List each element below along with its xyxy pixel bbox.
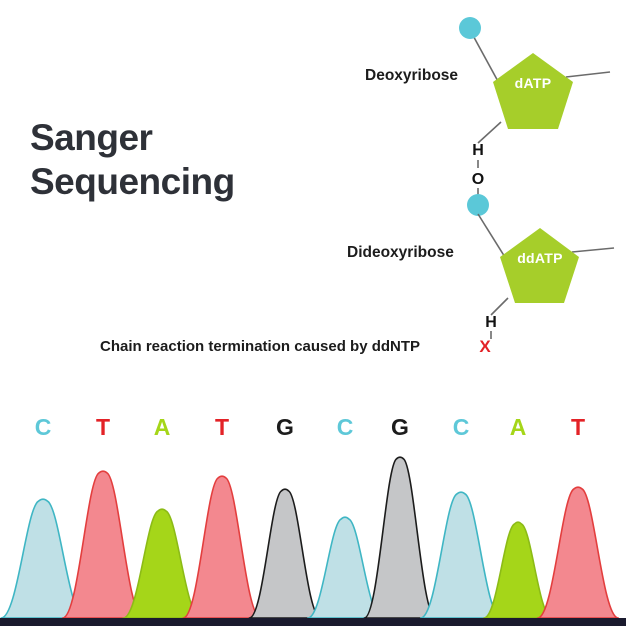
peak-1-T [63,471,144,618]
sanger-sequencing-infographic: Sanger Sequencing dATP Deoxyribose H O d… [0,0,626,626]
bond-circle-to-datp [470,30,500,85]
peak-8-A [484,522,552,618]
baseline-bar [0,618,626,626]
dideoxyribose-label: Dideoxyribose [347,244,454,261]
peak-9-T [538,487,619,618]
base-call-row: CTATGCGCAT [35,414,585,440]
base-letter-1: T [96,414,110,440]
atom-h-upper: H [472,142,484,159]
termination-caption: Chain reaction termination caused by ddN… [100,338,420,355]
phosphate-circle-top [459,17,481,39]
base-letter-3: T [215,414,229,440]
peak-7-C [421,492,502,618]
peak-4-G [249,489,320,618]
peak-6-G [364,457,435,618]
atom-h-lower: H [485,314,497,331]
nucleotide-structure-diagram: dATP Deoxyribose H O ddATP Dideoxyribose… [0,0,626,400]
base-letter-5: C [337,414,354,440]
chromatogram: CTATGCGCAT [0,400,626,626]
base-letter-4: G [276,414,294,440]
base-letter-8: A [510,414,527,440]
peak-2-A [123,509,201,618]
atom-o-upper: O [472,171,484,188]
base-letter-7: C [453,414,470,440]
base-letter-2: A [154,414,171,440]
bond-datp-to-h [478,122,501,143]
base-letter-9: T [571,414,585,440]
bond-datp-right [566,72,610,77]
termination-x-marker: X [479,337,491,356]
bond-ddatp-to-h [491,298,508,315]
phosphate-circle-middle [467,194,489,216]
base-letter-0: C [35,414,52,440]
bond-ddatp-right [572,248,614,252]
datp-label: dATP [515,75,552,91]
base-letter-6: G [391,414,409,440]
deoxyribose-label: Deoxyribose [365,67,458,84]
peak-3-T [183,476,261,618]
ddatp-label: ddATP [517,250,563,266]
datp-pentagon [493,53,573,129]
peak-traces [1,457,618,618]
